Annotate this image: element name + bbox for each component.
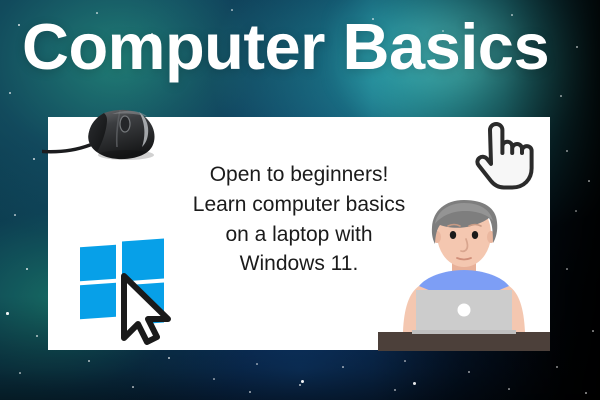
poster-canvas: Computer Basics: [0, 0, 600, 400]
card-line-3: on a laptop with: [174, 220, 424, 250]
card-line-2: Learn computer basics: [174, 190, 424, 220]
content-card: Open to beginners! Learn computer basics…: [48, 117, 550, 350]
card-text-block: Open to beginners! Learn computer basics…: [174, 160, 424, 279]
card-line-1: Open to beginners!: [174, 160, 424, 190]
arrow-pointer-cursor-icon: [116, 272, 178, 346]
pointing-hand-cursor-icon: [466, 122, 536, 192]
page-title: Computer Basics: [22, 13, 549, 81]
card-line-4: Windows 11.: [174, 249, 424, 279]
computer-mouse-icon: [42, 101, 158, 167]
